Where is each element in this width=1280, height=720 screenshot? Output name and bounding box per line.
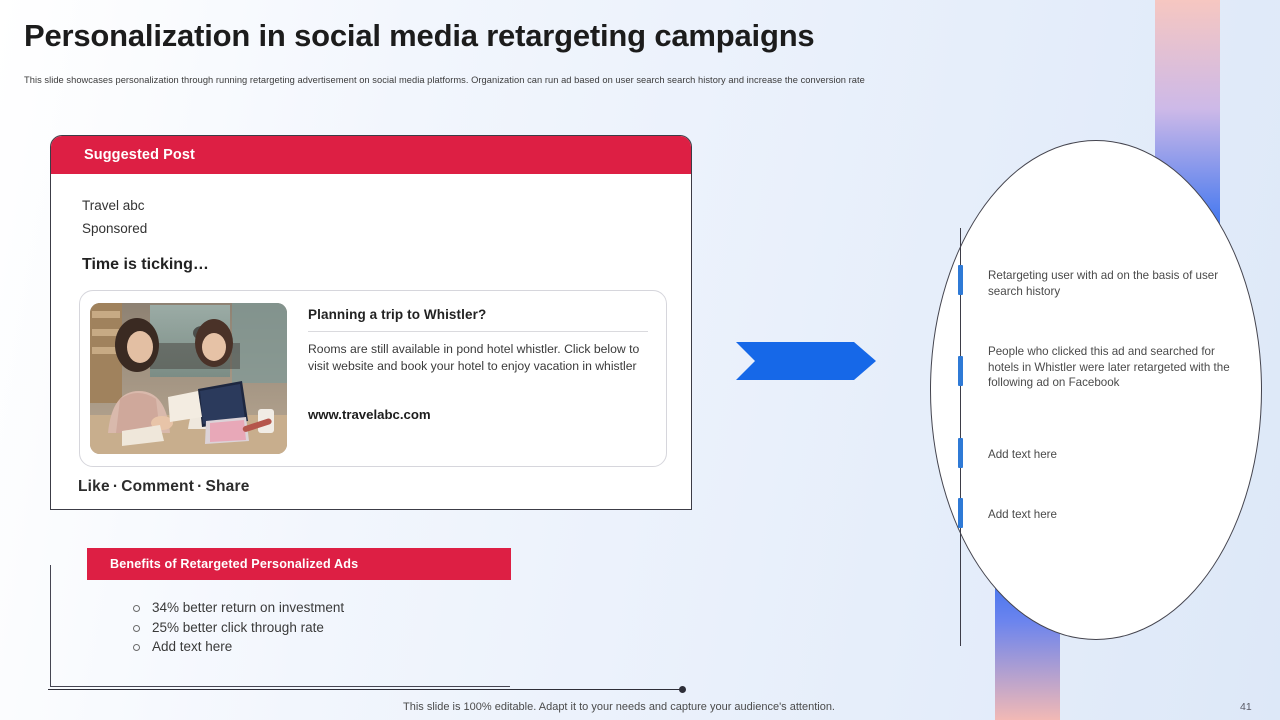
timeline-tick-icon xyxy=(958,356,963,386)
suggested-post-body: Travel abc Sponsored Time is ticking… xyxy=(51,174,691,274)
action-separator-2: · xyxy=(194,478,205,495)
like-button[interactable]: Like xyxy=(78,478,110,495)
oval-item-label: Retargeting user with ad on the basis of… xyxy=(988,268,1233,299)
timeline-tick-icon xyxy=(958,498,963,528)
benefits-list: 34% better return on investment 25% bett… xyxy=(130,598,344,657)
ad-text-column: Planning a trip to Whistler? Rooms are s… xyxy=(287,291,666,466)
suggested-post-header-label: Suggested Post xyxy=(84,147,195,163)
share-button[interactable]: Share xyxy=(205,478,249,495)
footer-rule-end-dot xyxy=(679,686,686,693)
post-actions-bar: Like·Comment·Share xyxy=(78,478,250,496)
ad-photo xyxy=(90,303,287,454)
list-item: 34% better return on investment xyxy=(130,598,344,618)
footer-rule xyxy=(48,689,683,690)
ad-title: Planning a trip to Whistler? xyxy=(308,307,648,322)
oval-item-label: People who clicked this ad and searched … xyxy=(988,344,1233,391)
page-title: Personalization in social media retarget… xyxy=(24,18,814,54)
ad-divider xyxy=(308,331,648,332)
oval-item-label: Add text here xyxy=(988,507,1233,523)
timeline-tick-icon xyxy=(958,438,963,468)
timeline-tick-icon xyxy=(958,265,963,295)
benefits-header-label: Benefits of Retargeted Personalized Ads xyxy=(110,557,358,571)
list-item: 25% better click through rate xyxy=(130,618,344,638)
list-item: Add text here xyxy=(130,637,344,657)
action-separator-1: · xyxy=(110,478,121,495)
ad-preview-card[interactable]: Planning a trip to Whistler? Rooms are s… xyxy=(79,290,667,467)
post-brand-name: Travel abc xyxy=(82,194,661,217)
ad-url-link[interactable]: www.travelabc.com xyxy=(308,407,648,422)
page-number: 41 xyxy=(1240,701,1252,713)
chevron-right-arrow-icon xyxy=(736,342,876,380)
page-subtitle: This slide showcases personalization thr… xyxy=(24,74,1024,87)
benefits-header: Benefits of Retargeted Personalized Ads xyxy=(87,548,511,580)
oval-item-label: Add text here xyxy=(988,447,1233,463)
oval-items-list: Retargeting user with ad on the basis of… xyxy=(930,140,1262,640)
ad-description: Rooms are still available in pond hotel … xyxy=(308,341,648,374)
post-sponsored-label: Sponsored xyxy=(82,217,661,240)
footer-note: This slide is 100% editable. Adapt it to… xyxy=(403,701,835,713)
comment-button[interactable]: Comment xyxy=(121,478,194,495)
post-headline: Time is ticking… xyxy=(82,256,661,274)
suggested-post-header: Suggested Post xyxy=(51,136,691,174)
